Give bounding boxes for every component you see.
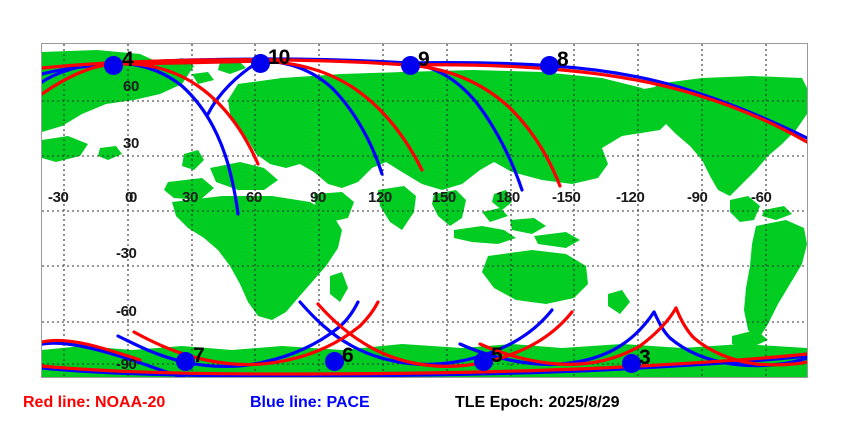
lon-label-m150: -150 [552,189,580,206]
track-marker-label-3: 3 [639,346,650,370]
lon-label-90: 90 [310,189,326,206]
track-marker-label-8: 8 [557,48,568,72]
lon-label-30: 30 [182,189,198,206]
lon-label-m120: -120 [616,189,644,206]
legend-red-line: Red line: NOAA-20 [23,394,165,412]
lat-label-m90: -90 [116,356,136,373]
lat-label-m30: -30 [116,245,136,262]
track-marker-4[interactable] [104,56,123,75]
lon-label-m90: -90 [687,189,707,206]
track-marker-label-7: 7 [193,344,204,368]
track-marker-label-9: 9 [418,48,429,72]
track-marker-label-5: 5 [491,344,502,368]
landmasses [42,50,807,377]
track-marker-label-10: 10 [268,46,289,70]
legend: Red line: NOAA-20 Blue line: PACE TLE Ep… [0,390,850,425]
track-marker-label-4: 4 [122,48,133,72]
lon-label-150: 150 [432,189,456,206]
lon-label-0: 0 [125,189,133,206]
map-graphics [42,44,807,377]
lat-label-30: 30 [123,135,139,152]
track-marker-label-6: 6 [342,344,353,368]
world-map: 90 60 30 0 -30 -60 -90 -30 0 30 60 90 12… [41,43,808,378]
lon-label-180: 180 [496,189,520,206]
lat-label-m60: -60 [116,303,136,320]
lon-label-m60: -60 [751,189,771,206]
lon-label-m30: -30 [48,189,68,206]
legend-blue-line: Blue line: PACE [250,394,370,412]
lat-label-60: 60 [123,78,139,95]
legend-tle-epoch: TLE Epoch: 2025/8/29 [455,394,620,412]
lon-label-120: 120 [368,189,392,206]
lon-label-60: 60 [246,189,262,206]
